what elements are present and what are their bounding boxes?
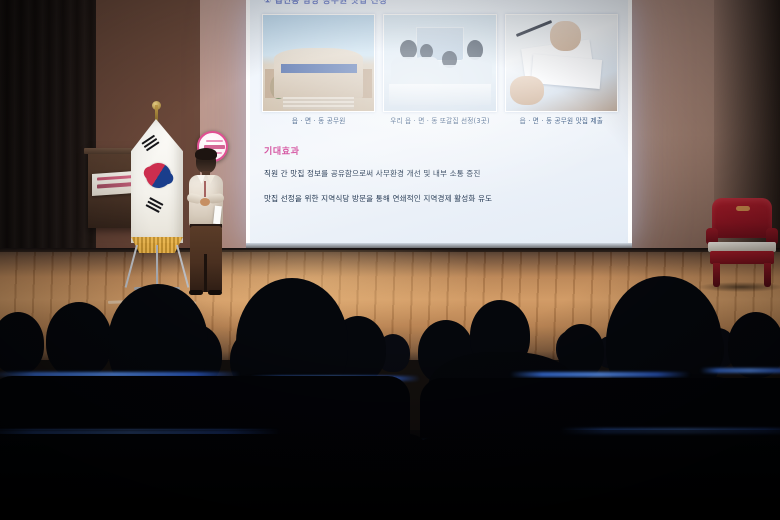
slide-photo-government-office-building [262, 14, 375, 112]
chair-leg-right [764, 263, 771, 287]
round-sign-text-line [206, 140, 223, 142]
flag-stand-leg [125, 245, 138, 288]
audience-shoulders [548, 374, 780, 472]
slide-title: ① 읍면동 담당 공무원 맛집 선정 [264, 0, 387, 6]
flag-stand-pole [156, 245, 158, 291]
slide-effect-line-1: 직원 간 맛집 정보를 공유함으로써 사무환경 개선 및 내부 소통 증진 [264, 168, 480, 179]
hand-shape [550, 21, 581, 52]
seat-edge-light [300, 440, 520, 446]
flag-pole [155, 105, 158, 121]
seat-edge-light [560, 428, 780, 434]
slide-effect-heading: 기대효과 [264, 144, 300, 157]
red-chair [704, 198, 780, 288]
presenter-shoe-right [208, 290, 222, 295]
presenter-lanyard [204, 181, 206, 197]
seat-back [0, 376, 410, 446]
slide-photo-documents-submission [505, 14, 618, 112]
flag-stand-base [134, 287, 180, 290]
seat-edge-light [250, 376, 420, 381]
pen-shape [515, 20, 551, 37]
presenter [184, 148, 228, 300]
audience-shoulders [182, 372, 404, 468]
seat-back-foreground [410, 438, 780, 520]
seat-back [420, 378, 780, 448]
presenter-leg-gap [204, 254, 207, 292]
seat-edge-light [700, 368, 780, 373]
seat-edge-light [0, 430, 280, 436]
chair-backrest [712, 198, 772, 238]
slide-photo-row [262, 14, 618, 112]
projection-screen: ① 읍면동 담당 공무원 맛집 선정 [250, 0, 628, 243]
presenter-shoe-left [189, 290, 203, 295]
chair-leg-left [713, 263, 720, 287]
slide-photo-staff-meeting [383, 14, 496, 112]
slide-effect-line-2: 맛집 선정을 위한 지역식당 방문을 통해 연쇄적인 지역경제 활성화 유도 [264, 193, 492, 204]
slide-photo-captions: 읍 · 면 · 동 공무원 우리 읍 · 면 · 동 또갈집 선정(3곳) 읍 … [262, 115, 618, 127]
seat-back-foreground [0, 434, 430, 520]
seat-edge-light [510, 372, 690, 377]
chair-crest-ornament [736, 206, 750, 211]
presenter-hand [200, 198, 210, 206]
building-steps [283, 97, 354, 109]
building-sign-band [281, 64, 357, 73]
photo-caption-2: 우리 읍 · 면 · 동 또갈집 선정(3곳) [383, 115, 496, 127]
hand-shape [510, 76, 543, 105]
photo-caption-1: 읍 · 면 · 동 공무원 [262, 115, 375, 127]
presenter-hair [195, 148, 217, 160]
person-body [414, 57, 438, 86]
photo-caption-3: 읍 · 면 · 동 공무원 맛집 제출 [505, 115, 618, 127]
seat-edge-light [0, 372, 240, 377]
audience-shoulders [62, 372, 258, 462]
auditorium-presentation-photo: ① 읍면동 담당 공무원 맛집 선정 [0, 0, 780, 520]
building-shape [274, 48, 363, 98]
audience-shoulders [428, 352, 578, 432]
foreground-shadow [0, 430, 780, 520]
meeting-table [389, 84, 491, 105]
korean-flag [126, 105, 188, 285]
